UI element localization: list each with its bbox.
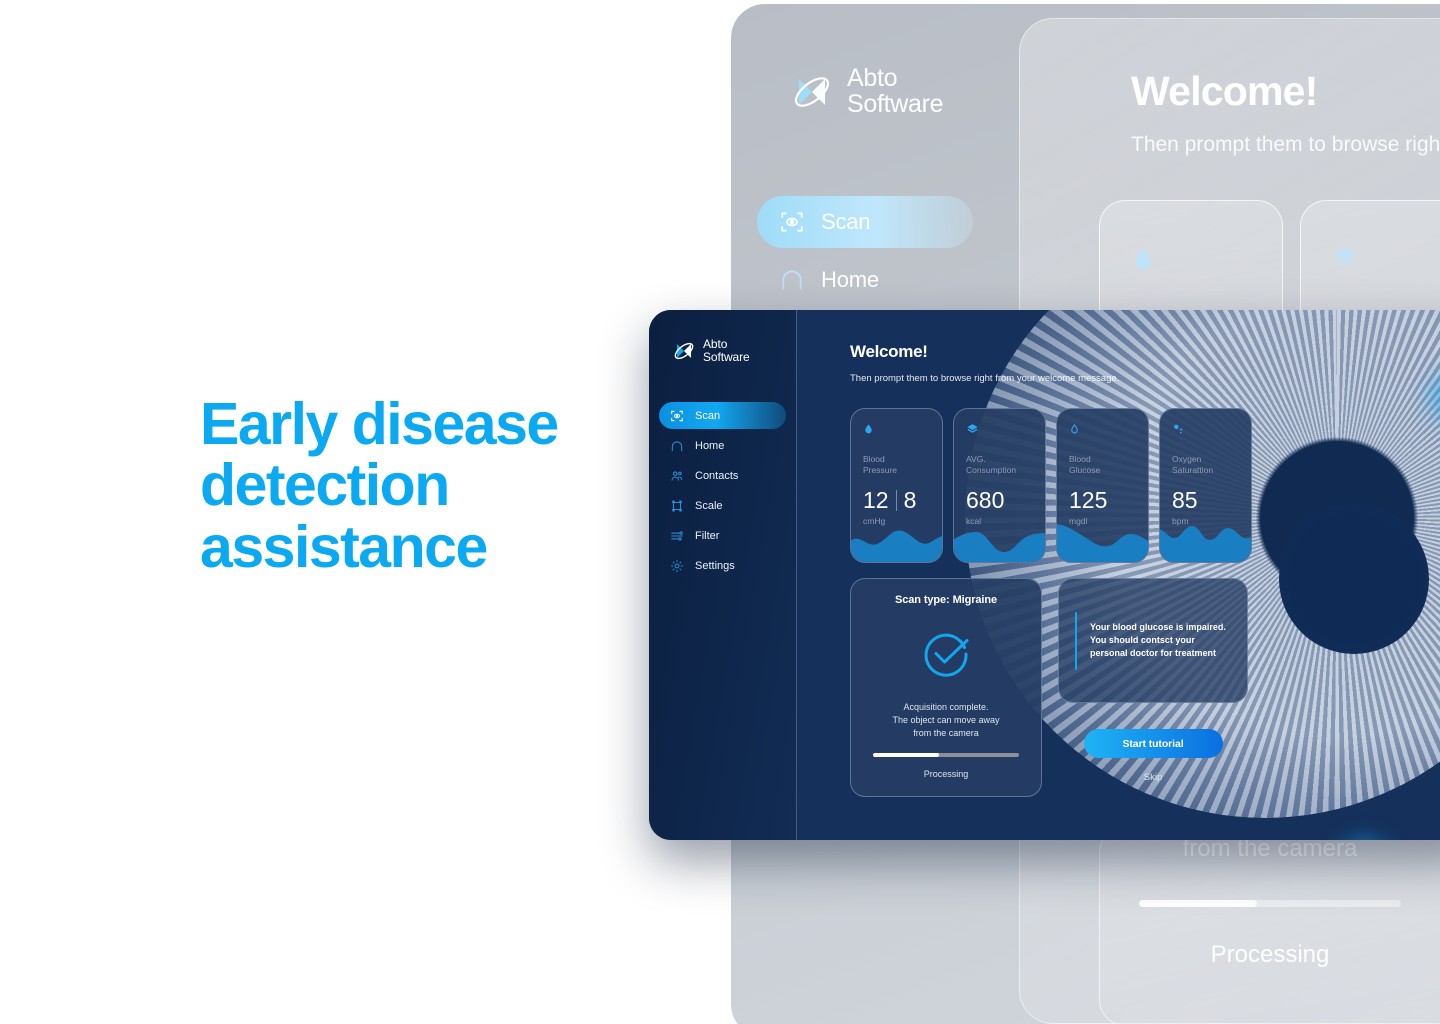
progress-label: Processing — [869, 769, 1023, 779]
page-headline: Early disease detection assistance — [200, 394, 630, 578]
metric-label: AVG.Consumption — [966, 454, 1033, 476]
sidebar-item-settings[interactable]: Settings — [659, 552, 786, 579]
gear-icon — [670, 559, 684, 573]
metric-card-avg-consumption[interactable]: AVG.Consumption 680 kcal — [953, 408, 1046, 563]
metric-label: BloodPressure — [863, 454, 930, 476]
metric-wave — [1159, 518, 1252, 562]
right-column: Your blood glucose is impaired. You shou… — [1058, 578, 1248, 797]
lower-row: Scan type: Migraine Acquisition complete… — [850, 578, 1440, 797]
scan-status-card: Scan type: Migraine Acquisition complete… — [850, 578, 1042, 797]
sidebar-item-label: Settings — [695, 560, 735, 572]
progress-bar — [873, 753, 1019, 757]
progress-fill — [873, 753, 939, 757]
sidebar-item-filter[interactable]: Filter — [659, 522, 786, 549]
contacts-icon — [670, 469, 684, 483]
scan-type-title: Scan type: Migraine — [869, 594, 1023, 606]
alert-text: Your blood glucose is impaired. You shou… — [1090, 621, 1231, 661]
brand-name: Abto Software — [703, 338, 750, 363]
ghost-brand-name: Abto Software — [847, 66, 943, 118]
metric-card-blood-glucose[interactable]: BloodGlucose 125 mgdl — [1056, 408, 1149, 563]
page-title: Welcome! — [850, 342, 1440, 362]
ghost-sidebar-item-home[interactable]: Home — [757, 254, 973, 306]
check-circle-icon — [919, 627, 973, 681]
page-root: Abto Software Scan Home Welcome! Then pr… — [0, 0, 1440, 1024]
ghost-progress-label: Processing — [1100, 941, 1440, 969]
ghost-sidebar-label: Home — [821, 267, 879, 293]
sidebar-item-contacts[interactable]: Contacts — [659, 462, 786, 489]
metric-card-blood-pressure[interactable]: BloodPressure 128 cmHg — [850, 408, 943, 563]
home-icon — [670, 439, 684, 453]
alert-card: Your blood glucose is impaired. You shou… — [1058, 578, 1248, 703]
skip-button[interactable]: Skip — [1058, 772, 1248, 783]
sidebar-item-home[interactable]: Home — [659, 432, 786, 459]
page-subtitle: Then prompt them to browse right from yo… — [850, 373, 1440, 384]
droplet-icon — [863, 422, 874, 436]
headline-line-1: Early disease — [200, 394, 630, 455]
alert-accent-bar — [1075, 612, 1077, 670]
abto-atom-logo-icon — [788, 68, 836, 116]
metric-wave — [850, 518, 943, 562]
metric-label: OxygenSaturattion — [1172, 454, 1239, 476]
layers-icon — [1331, 243, 1359, 271]
layers-icon — [966, 422, 979, 436]
metric-value: 125 — [1069, 487, 1136, 514]
sidebar-item-scan[interactable]: Scan — [659, 402, 786, 429]
sidebar: Abto Software Scan Home — [649, 310, 796, 840]
metric-wave — [1056, 518, 1149, 562]
ghost-progress-fill — [1139, 900, 1257, 907]
droplet-outline-icon — [1069, 422, 1080, 436]
sidebar-divider — [796, 310, 797, 840]
metric-value: 128 — [863, 487, 930, 514]
scan-eye-icon — [779, 209, 805, 235]
sidebar-nav: Scan Home Contacts — [649, 402, 796, 579]
abto-atom-logo-icon — [671, 338, 697, 364]
ghost-sidebar-nav: Scan Home — [757, 196, 973, 312]
headline-line-3: assistance — [200, 517, 630, 578]
scale-crop-icon — [670, 499, 684, 513]
sidebar-item-label: Filter — [695, 530, 719, 542]
ghost-brand-logo: Abto Software — [788, 66, 943, 118]
main-content: Welcome! Then prompt them to browse righ… — [797, 310, 1440, 840]
metric-label: BloodGlucose — [1069, 454, 1136, 476]
scan-eye-icon — [670, 409, 684, 423]
ghost-sidebar-label: Scan — [821, 209, 870, 235]
start-tutorial-button[interactable]: Start tutorial — [1084, 729, 1223, 758]
ghost-page-title: Welcome! — [1131, 68, 1440, 115]
sidebar-item-label: Scan — [695, 410, 720, 422]
sidebar-item-label: Home — [695, 440, 724, 452]
ghost-scan-progress-card: from the camera Processing — [1099, 826, 1440, 1024]
sidebar-item-label: Scale — [695, 500, 723, 512]
metric-card-list: BloodPressure 128 cmHg AVG.Consum — [850, 408, 1440, 563]
sidebar-item-scale[interactable]: Scale — [659, 492, 786, 519]
metric-value: 680 — [966, 487, 1033, 514]
home-icon — [779, 267, 805, 293]
molecule-dots-icon — [1172, 422, 1185, 436]
ghost-page-subtitle: Then prompt them to browse right from yo… — [1131, 133, 1440, 157]
app-window: Abto Software Scan Home — [649, 310, 1440, 840]
scan-message: Acquisition complete. The object can mov… — [869, 701, 1023, 740]
metric-wave — [953, 518, 1046, 562]
filter-sliders-icon — [670, 529, 684, 543]
metric-card-oxygen-saturation[interactable]: OxygenSaturattion 85 bpm — [1159, 408, 1252, 563]
droplet-icon — [1130, 243, 1156, 275]
metric-value: 85 — [1172, 487, 1239, 514]
ghost-sidebar-item-scan[interactable]: Scan — [757, 196, 973, 248]
headline-line-2: detection — [200, 455, 630, 516]
sidebar-item-label: Contacts — [695, 470, 738, 482]
ghost-progress-bar — [1139, 900, 1401, 907]
brand-logo: Abto Software — [649, 338, 796, 364]
ghost-welcome-block: Welcome! Then prompt them to browse righ… — [1131, 68, 1440, 157]
